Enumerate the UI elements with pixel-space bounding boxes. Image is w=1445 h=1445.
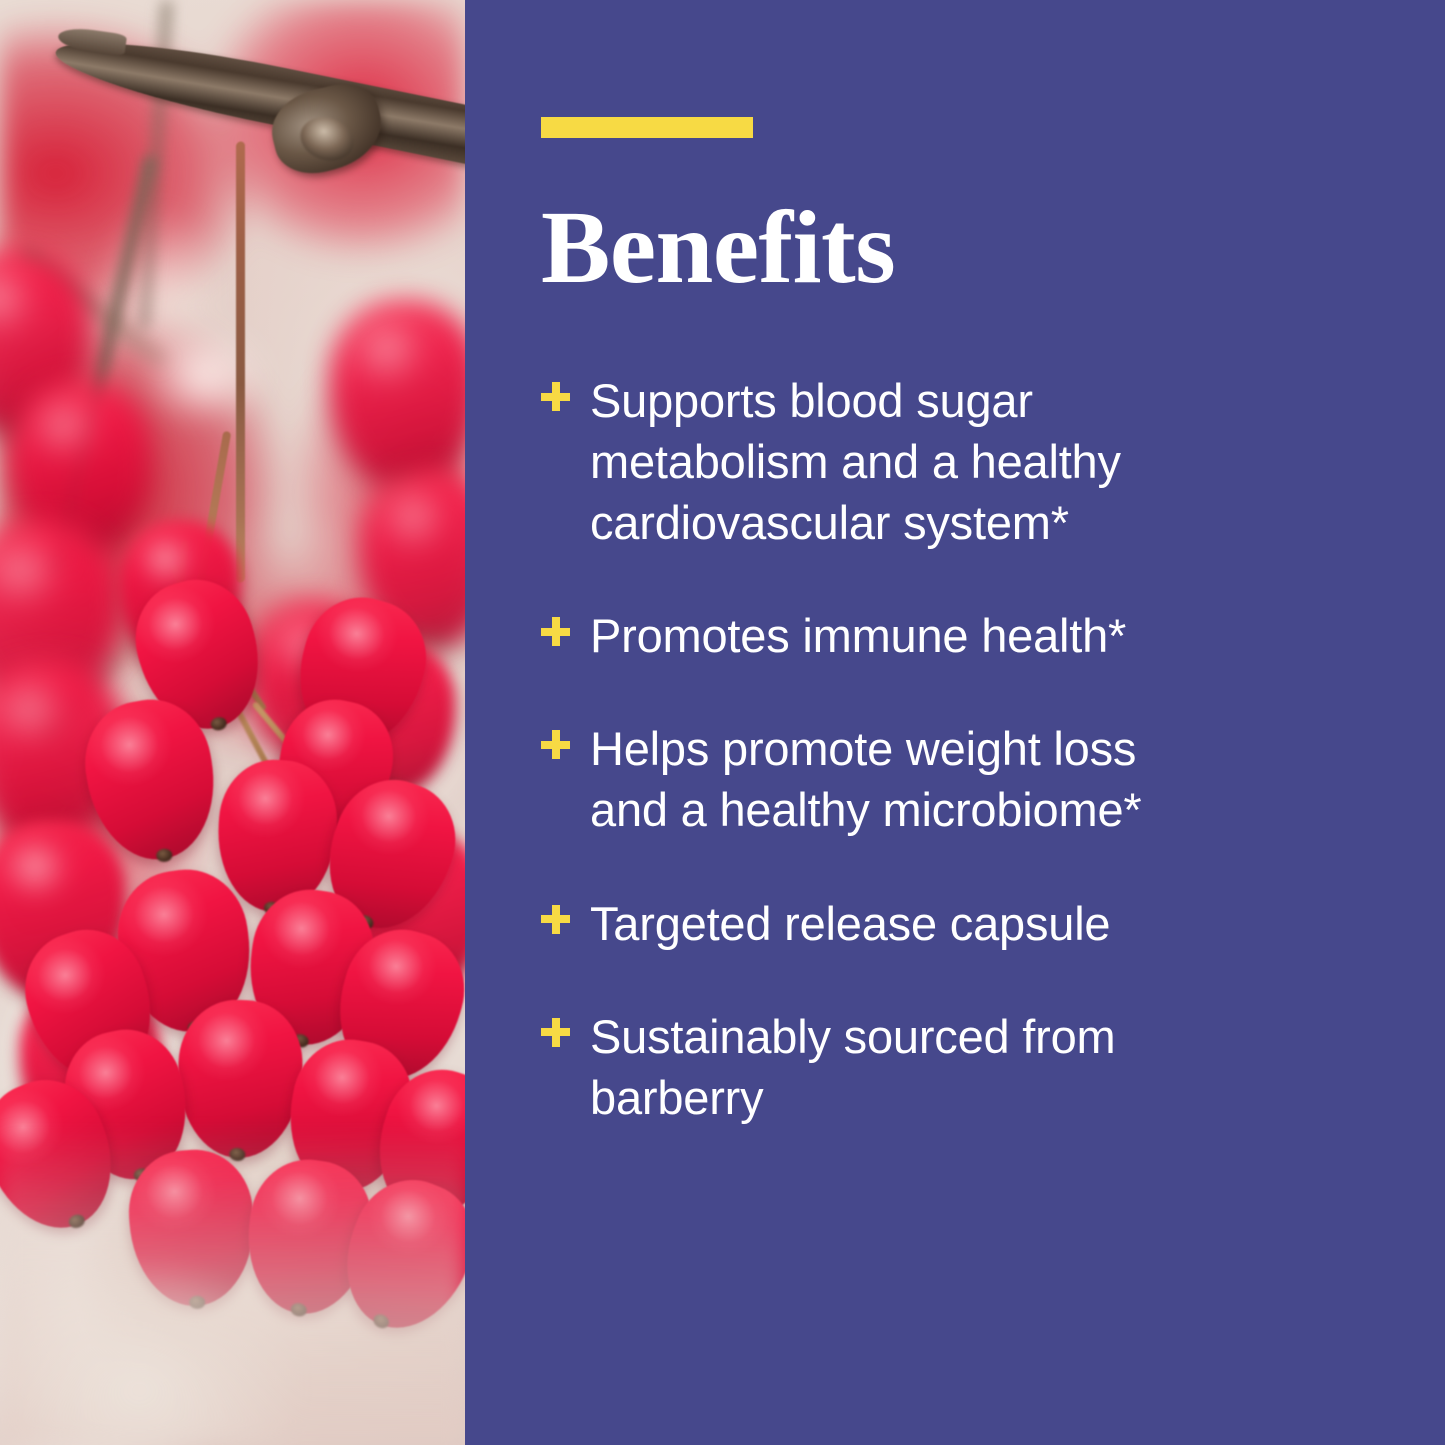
list-item: Targeted release capsule	[541, 893, 1381, 954]
plus-icon	[541, 1018, 570, 1047]
benefits-list: Supports blood sugar metabolism and a he…	[541, 370, 1381, 1128]
list-item: Helps promote weight loss and a healthy …	[541, 718, 1381, 840]
benefit-text: Targeted release capsule	[590, 893, 1110, 954]
plus-icon	[541, 730, 570, 759]
benefit-text: Helps promote weight loss and a healthy …	[590, 718, 1141, 840]
benefit-text: Sustainably sourced from barberry	[590, 1006, 1116, 1128]
list-item: Supports blood sugar metabolism and a he…	[541, 370, 1381, 553]
plus-icon	[541, 617, 570, 646]
photo-bottom-defocus	[0, 0, 465, 1445]
plus-icon	[541, 382, 570, 411]
accent-bar	[541, 117, 753, 138]
benefit-text: Supports blood sugar metabolism and a he…	[590, 370, 1121, 553]
benefit-text: Promotes immune health*	[590, 605, 1126, 666]
benefits-content-panel: Benefits Supports blood sugar metabolism…	[465, 0, 1445, 1445]
benefits-card: Benefits Supports blood sugar metabolism…	[0, 0, 1445, 1445]
plus-icon	[541, 905, 570, 934]
list-item: Sustainably sourced from barberry	[541, 1006, 1381, 1128]
list-item: Promotes immune health*	[541, 605, 1381, 666]
barberry-photo	[0, 0, 465, 1445]
page-title: Benefits	[541, 196, 1381, 300]
